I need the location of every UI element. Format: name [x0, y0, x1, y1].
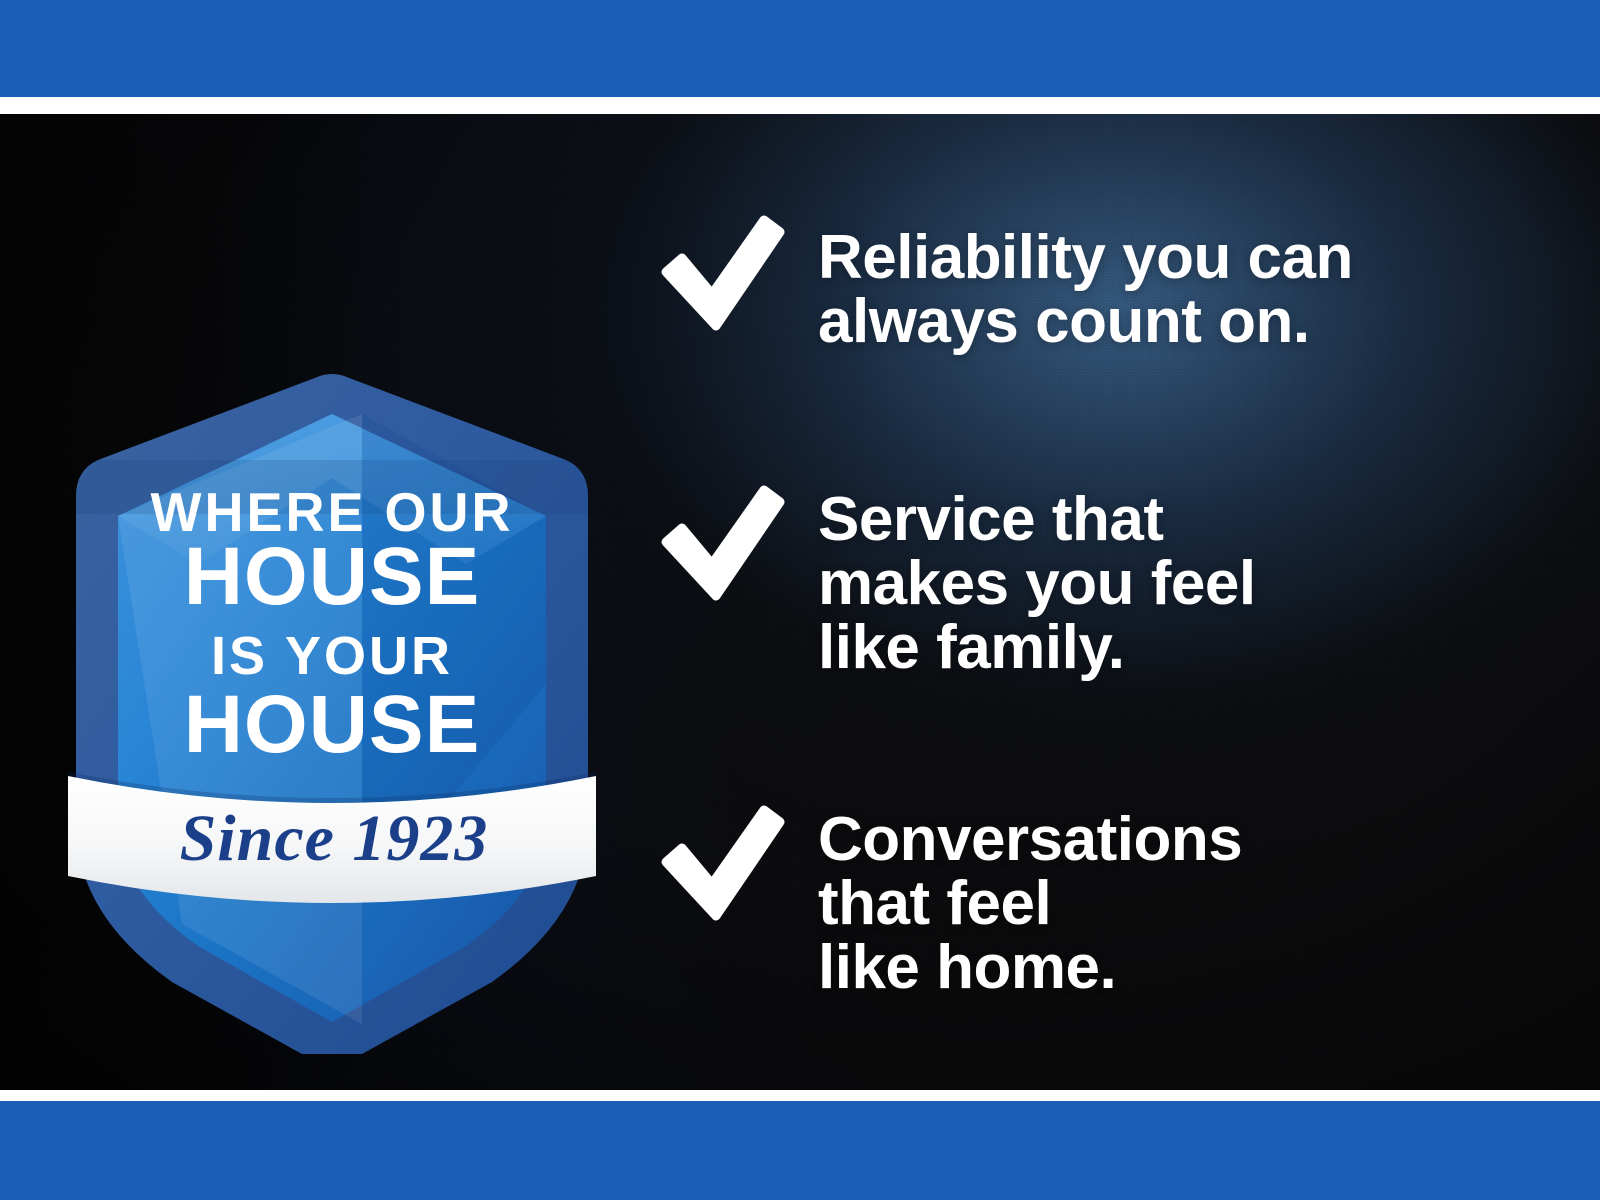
benefit-text: Conversations that feel like home.	[818, 804, 1242, 1000]
top-brand-bar	[0, 0, 1600, 97]
check-icon	[660, 484, 786, 604]
main-panel: WHERE OUR HOUSE IS YOUR HOUSE Since 1923	[0, 114, 1600, 1090]
badge-line-3: IS YOUR	[211, 626, 453, 686]
badge-line-2: HOUSE	[184, 531, 481, 622]
benefit-item: Conversations that feel like home.	[660, 804, 1242, 1000]
check-icon	[660, 214, 786, 334]
badge-line-4: HOUSE	[184, 679, 481, 770]
benefit-text: Reliability you can always count on.	[818, 214, 1353, 354]
check-icon	[660, 804, 786, 924]
benefit-item: Reliability you can always count on.	[660, 214, 1353, 354]
promo-graphic: WHERE OUR HOUSE IS YOUR HOUSE Since 1923	[0, 0, 1600, 1200]
benefit-item: Service that makes you feel like family.	[660, 484, 1256, 680]
bottom-brand-bar	[0, 1101, 1600, 1200]
benefit-text: Service that makes you feel like family.	[818, 484, 1256, 680]
ribbon-text: Since 1923	[180, 802, 489, 875]
shield-badge: WHERE OUR HOUSE IS YOUR HOUSE Since 1923	[62, 264, 602, 1054]
